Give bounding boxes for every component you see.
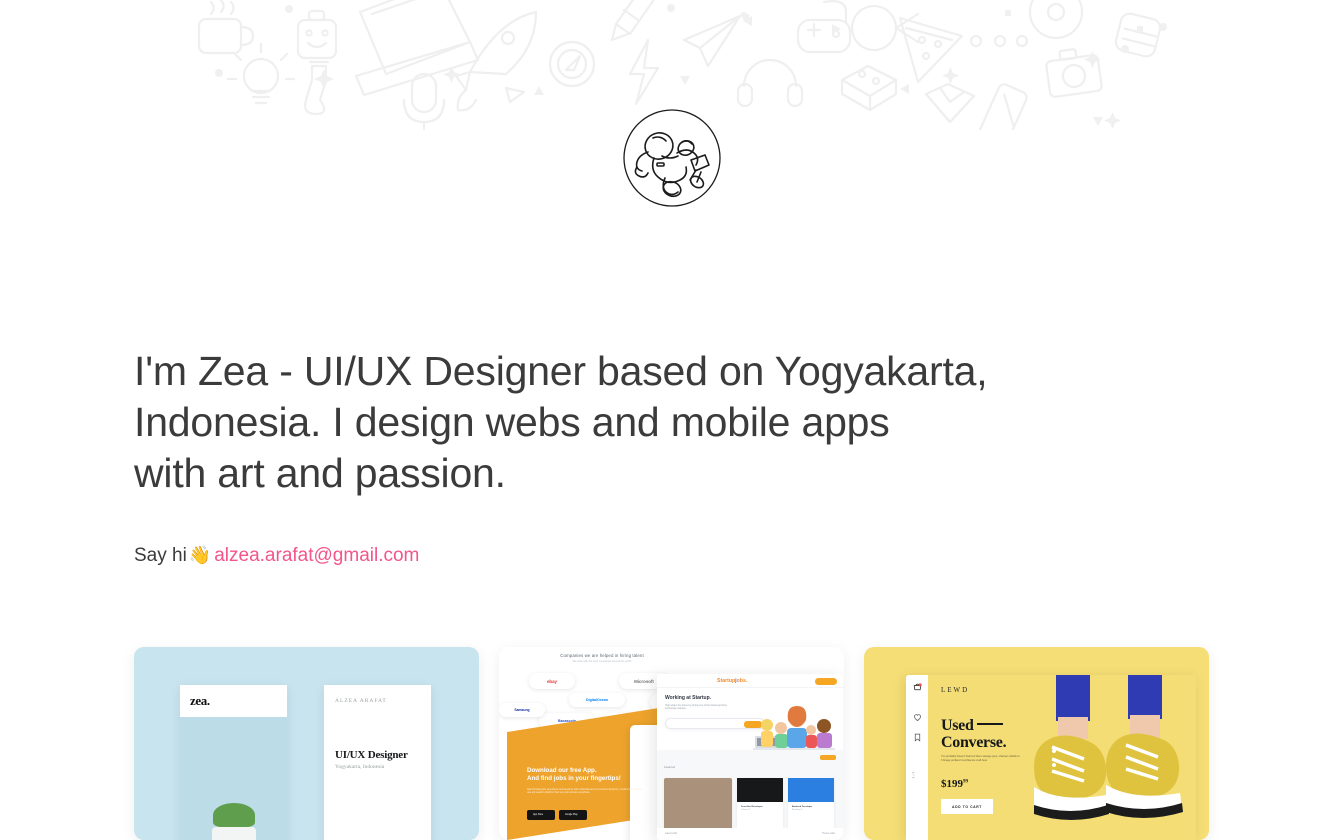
featured-card[interactable]: Front-End Developer Jakarta, ID [737,778,783,832]
company-logo-samsung: Samsung [499,703,545,717]
converse-shoes-photo [1020,675,1196,840]
project-card-startupjobs[interactable]: Companies we are helped in hiring talent… [499,647,844,840]
add-to-cart-button[interactable]: ADD TO CART [941,799,993,814]
diamond-icon [926,84,974,122]
hero-body: Help shape the future by joining one of … [665,704,737,711]
site-footer: Latest Jobs Theme Jobs [657,828,843,840]
person-role: UI/UX Designer [335,749,408,761]
featured-card[interactable] [664,778,732,832]
signup-button[interactable] [815,678,837,685]
triangle-icon [534,16,1103,126]
featured-title: Backend Developer [792,806,830,808]
rocket-icon [456,12,536,110]
pager-label: 1 / 4 [912,772,916,779]
smartphone-icon [978,82,1029,130]
plant-leaves-shape [213,803,255,827]
person-name: ALZEA ARAFAT [335,698,387,704]
dot-icon [1017,36,1027,46]
logos-subheading: We work with the best companies around t… [507,660,697,663]
bookmark-icon[interactable] [913,733,922,742]
camera-icon [1046,49,1103,98]
side-rail: 1 / 4 [906,675,928,840]
product-title: Used Converse. [941,717,1006,751]
lightning-icon [630,40,658,104]
compass-icon [550,42,594,86]
startupjobs-site-mock: Startupjobs. Working at Startup. Help sh… [657,674,843,840]
store-brand: LEWD [941,686,969,694]
business-card-front: zea. [180,685,287,840]
paper-plane-icon [684,16,740,66]
featured-section: Featured Front-End Developer Jakarta, ID [657,750,843,830]
headphones-icon [738,60,802,106]
price-value: $199 [941,778,963,790]
cart-icon[interactable] [913,683,922,692]
featured-card[interactable]: Backend Developer Bandung, ID [788,778,834,832]
lego-brick-icon [842,66,896,110]
waving-hand-icon: 👋 [189,545,211,565]
googleplay-button[interactable]: Google Play [559,810,587,820]
email-link[interactable]: alzea.arafat@gmail.com [214,545,419,566]
appstore-button[interactable]: App Store [527,810,555,820]
project-card-converse[interactable]: 1 / 4 LEWD Used Converse. You probably h… [864,647,1209,840]
plant-photo [180,717,287,840]
featured-row: Front-End Developer Jakarta, ID Backend … [664,778,836,832]
see-more-button[interactable] [820,755,836,760]
microphone-icon [404,74,444,130]
job-search-input[interactable] [665,718,765,729]
company-logo-ebay: ebay [529,673,575,689]
pizza-icon [900,18,962,82]
business-card-back: ALZEA ARAFAT UI/UX Designer Yogyakarta, … [324,685,431,840]
app-promo-title-1: Download our free App. [527,767,647,776]
logos-heading: Companies we are helped in hiring talent [507,653,697,658]
lego-head-icon [298,11,336,58]
price-cents: 99 [963,779,968,784]
app-promo-text: Download our free App. And find jobs in … [527,767,647,795]
pencil-icon [612,0,662,40]
product-price: $19999 [941,778,968,790]
converse-site-mock: 1 / 4 LEWD Used Converse. You probably h… [906,675,1196,840]
site-nav: Startupjobs. [657,674,843,688]
store-button-group: App Store Google Play [527,810,587,820]
cd-icon [1030,0,1082,38]
intro-block: I'm Zea - UI/UX Designer based on Yogyak… [134,346,1144,499]
app-promo-title-2: And find jobs in your fingertips! [527,775,647,784]
project-card-row: zea. ALZEA ARAFAT UI/UX Designer Yogyaka… [134,647,1210,840]
say-hi-label: Say hi [134,545,187,566]
person-location: Yogyakarta, Indonesia [335,764,384,770]
product-description: You probably haven't heard of them selva… [941,755,1021,763]
plant-pot-shape [212,827,256,840]
gamepad-icon [798,1,850,52]
featured-company: Jakarta, ID [741,809,779,811]
hero-title: Working at Startup. [665,695,835,701]
app-promo-body: Start finding jobs anywhere and anytime … [527,788,647,795]
lightbulb-icon [228,44,294,103]
headline-line-2: design webs and mobile apps [355,399,890,445]
headline-line-3: with art and passion. [134,448,1144,499]
dot-icon [971,36,981,46]
people-illustration [753,704,835,752]
portfolio-page: I'm Zea - UI/UX Designer based on Yogyak… [0,0,1344,840]
laptop-icon [356,0,478,95]
site-hero: Working at Startup. Help shape the futur… [657,688,843,750]
featured-label: Featured [664,765,675,769]
heart-icon[interactable] [913,713,922,722]
product-stage: LEWD Used Converse. You probably haven't… [928,675,1196,840]
featured-title: Front-End Developer [741,806,779,808]
company-logo-digitalocean: DigitalOcean [569,693,625,707]
burger-icon [1114,12,1162,59]
contact-line: Say hi👋alzea.arafat@gmail.com [134,542,419,569]
product-title-line2: Converse. [941,734,1006,751]
dot-icon [995,36,1005,46]
product-title-line1: Used [941,717,974,734]
featured-company: Bandung, ID [792,809,830,811]
pacman-icon [852,6,918,50]
coffee-mug-icon [199,0,253,53]
footer-right: Theme Jobs [822,832,835,835]
site-logo: Startupjobs. [717,678,747,684]
astronaut-logo[interactable] [622,108,722,208]
brand-wordmark: zea. [190,693,210,709]
project-card-personal-branding[interactable]: zea. ALZEA ARAFAT UI/UX Designer Yogyaka… [134,647,479,840]
footer-left: Latest Jobs [665,832,677,835]
flask-icon [305,62,328,114]
page-title: I'm Zea - UI/UX Designer based on Yogyak… [134,346,1144,499]
